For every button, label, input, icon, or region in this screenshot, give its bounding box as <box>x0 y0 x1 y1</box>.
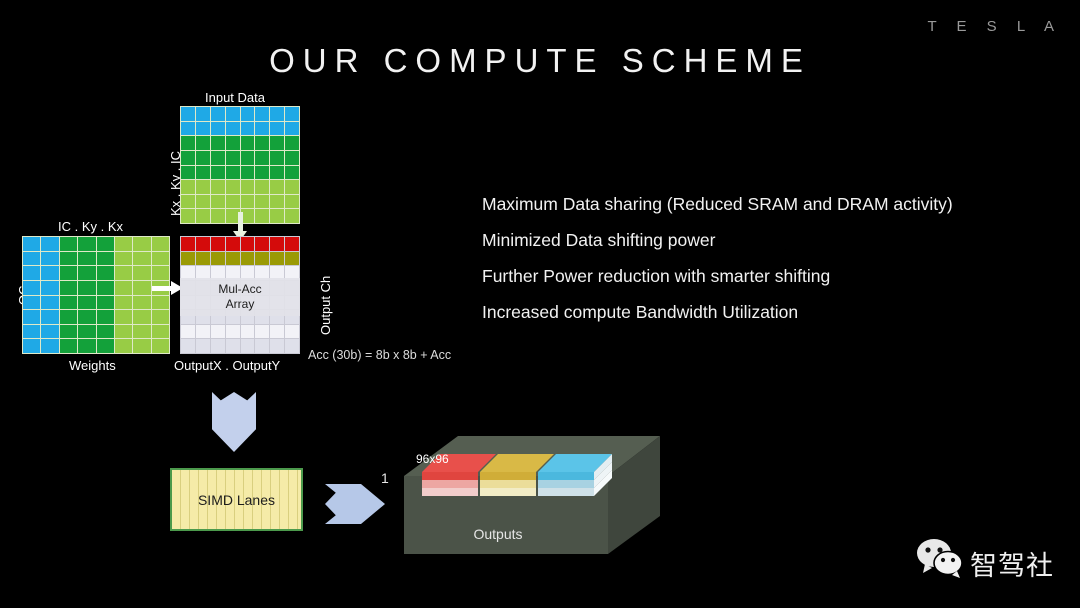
grid-cell <box>97 281 114 295</box>
grid-cell <box>152 310 169 324</box>
grid-cell <box>255 339 269 353</box>
wechat-icon <box>915 538 965 578</box>
grid-cell <box>270 136 284 150</box>
grid-cell <box>255 122 269 136</box>
grid-cell <box>255 166 269 180</box>
grid-cell <box>78 266 95 280</box>
grid-cell <box>285 325 299 339</box>
grid-cell <box>41 325 58 339</box>
weights-title: IC . Ky . Kx <box>58 219 123 234</box>
grid-cell <box>226 325 240 339</box>
grid-cell <box>23 296 40 310</box>
grid-cell <box>226 180 240 194</box>
grid-cell <box>211 237 225 251</box>
grid-cell <box>181 107 195 121</box>
grid-cell <box>211 180 225 194</box>
grid-cell <box>270 180 284 194</box>
grid-cell <box>255 180 269 194</box>
grid-cell <box>41 281 58 295</box>
grid-cell <box>285 209 299 223</box>
grid-cell <box>152 339 169 353</box>
grid-cell <box>196 281 210 295</box>
grid-cell <box>115 237 132 251</box>
grid-cell <box>211 136 225 150</box>
grid-cell <box>133 310 150 324</box>
grid-cell <box>241 180 255 194</box>
grid-cell <box>270 166 284 180</box>
tesla-wordmark: T E S L A <box>927 18 1062 35</box>
grid-cell <box>60 266 77 280</box>
grid-cell <box>115 281 132 295</box>
grid-cell <box>270 339 284 353</box>
grid-cell <box>255 209 269 223</box>
grid-cell <box>41 296 58 310</box>
grid-cell <box>226 151 240 165</box>
grid-cell <box>78 296 95 310</box>
grid-cell <box>226 266 240 280</box>
grid-cell <box>78 252 95 266</box>
grid-cell <box>152 237 169 251</box>
grid-cell <box>41 339 58 353</box>
grid-cell <box>41 252 58 266</box>
bullet-list: Maximum Data sharing (Reduced SRAM and D… <box>482 186 1042 330</box>
grid-cell <box>241 195 255 209</box>
grid-cell <box>211 166 225 180</box>
grid-cell <box>196 136 210 150</box>
grid-cell <box>133 266 150 280</box>
grid-cell <box>133 325 150 339</box>
grid-cell <box>241 266 255 280</box>
grid-cell <box>241 296 255 310</box>
outputs-3d-block: 96x96 Outputs <box>398 428 668 560</box>
grid-cell <box>196 237 210 251</box>
grid-cell <box>270 151 284 165</box>
output-channel-label: Output Ch <box>318 276 333 335</box>
input-data-title: Input Data <box>205 90 265 105</box>
grid-cell <box>226 237 240 251</box>
grid-cell <box>255 151 269 165</box>
bullet-item: Further Power reduction with smarter shi… <box>482 258 1042 294</box>
grid-cell <box>226 107 240 121</box>
grid-cell <box>196 339 210 353</box>
grid-cell <box>211 339 225 353</box>
grid-cell <box>60 339 77 353</box>
grid-cell <box>241 325 255 339</box>
grid-cell <box>41 237 58 251</box>
grid-cell <box>285 166 299 180</box>
grid-cell <box>211 151 225 165</box>
grid-cell <box>255 237 269 251</box>
grid-cell <box>60 310 77 324</box>
grid-cell <box>285 122 299 136</box>
grid-cell <box>181 281 195 295</box>
grid-cell <box>152 296 169 310</box>
grid-cell <box>181 166 195 180</box>
grid-cell <box>285 195 299 209</box>
grid-cell <box>211 252 225 266</box>
grid-cell <box>181 237 195 251</box>
bullet-item: Maximum Data sharing (Reduced SRAM and D… <box>482 186 1042 222</box>
outputs-tile-label: 96x96 <box>416 452 449 466</box>
grid-cell <box>285 107 299 121</box>
grid-cell <box>196 209 210 223</box>
grid-cell <box>285 136 299 150</box>
grid-cell <box>196 151 210 165</box>
grid-cell <box>196 107 210 121</box>
right-arrow-icon <box>152 286 172 291</box>
grid-cell <box>23 339 40 353</box>
grid-cell <box>241 107 255 121</box>
grid-cell <box>285 296 299 310</box>
watermark: 智驾社 <box>915 538 1075 584</box>
grid-cell <box>241 166 255 180</box>
grid-cell <box>226 339 240 353</box>
grid-cell <box>97 266 114 280</box>
grid-cell <box>241 310 255 324</box>
grid-cell <box>270 325 284 339</box>
grid-cell <box>226 281 240 295</box>
simd-lanes-box: SIMD Lanes <box>170 468 303 531</box>
grid-cell <box>181 296 195 310</box>
grid-cell <box>97 339 114 353</box>
grid-cell <box>226 195 240 209</box>
bullet-item: Minimized Data shifting power <box>482 222 1042 258</box>
grid-cell <box>241 339 255 353</box>
page-title: OUR COMPUTE SCHEME <box>0 42 1080 80</box>
grid-cell <box>196 180 210 194</box>
grid-cell <box>181 136 195 150</box>
grid-cell <box>97 325 114 339</box>
grid-cell <box>241 151 255 165</box>
grid-cell <box>41 310 58 324</box>
grid-cell <box>285 180 299 194</box>
grid-cell <box>78 325 95 339</box>
grid-cell <box>255 252 269 266</box>
grid-cell <box>285 339 299 353</box>
grid-cell <box>133 252 150 266</box>
grid-cell <box>226 252 240 266</box>
grid-cell <box>133 339 150 353</box>
grid-cell <box>211 122 225 136</box>
grid-cell <box>41 266 58 280</box>
acc-formula: Acc (30b) = 8b x 8b + Acc <box>308 348 451 362</box>
grid-cell <box>23 325 40 339</box>
grid-cell <box>255 266 269 280</box>
grid-cell <box>196 310 210 324</box>
grid-cell <box>285 237 299 251</box>
chevron-down-icon <box>212 392 256 452</box>
grid-cell <box>211 266 225 280</box>
grid-cell <box>60 281 77 295</box>
grid-cell <box>181 325 195 339</box>
watermark-text: 智驾社 <box>970 544 1054 583</box>
grid-cell <box>23 281 40 295</box>
chevron-right-icon <box>325 484 385 524</box>
grid-cell <box>196 195 210 209</box>
grid-cell <box>226 122 240 136</box>
grid-cell <box>226 166 240 180</box>
grid-cell <box>241 136 255 150</box>
grid-cell <box>115 296 132 310</box>
grid-cell <box>196 166 210 180</box>
grid-cell <box>60 237 77 251</box>
weights-caption: Weights <box>69 358 116 373</box>
grid-cell <box>152 266 169 280</box>
grid-cell <box>115 310 132 324</box>
grid-cell <box>97 296 114 310</box>
input-data-grid <box>180 106 300 224</box>
grid-cell <box>196 252 210 266</box>
grid-cell <box>226 136 240 150</box>
grid-cell <box>270 266 284 280</box>
grid-cell <box>285 151 299 165</box>
grid-cell <box>226 310 240 324</box>
down-arrow-icon <box>238 212 243 232</box>
grid-cell <box>60 252 77 266</box>
grid-cell <box>285 310 299 324</box>
grid-cell <box>285 281 299 295</box>
grid-cell <box>23 266 40 280</box>
outputs-label: Outputs <box>398 526 598 542</box>
grid-cell <box>115 252 132 266</box>
grid-cell <box>270 281 284 295</box>
grid-cell <box>181 122 195 136</box>
grid-cell <box>196 122 210 136</box>
grid-cell <box>255 107 269 121</box>
grid-cell <box>270 195 284 209</box>
grid-cell <box>255 195 269 209</box>
grid-cell <box>241 122 255 136</box>
grid-cell <box>181 266 195 280</box>
mul-acc-array-grid <box>180 236 300 354</box>
grid-cell <box>270 209 284 223</box>
grid-cell <box>97 252 114 266</box>
grid-cell <box>181 252 195 266</box>
grid-cell <box>78 310 95 324</box>
grid-cell <box>270 122 284 136</box>
grid-cell <box>270 237 284 251</box>
grid-cell <box>115 339 132 353</box>
grid-cell <box>285 266 299 280</box>
grid-cell <box>255 296 269 310</box>
weights-grid <box>22 236 170 354</box>
grid-cell <box>211 107 225 121</box>
grid-cell <box>226 296 240 310</box>
grid-cell <box>133 237 150 251</box>
grid-cell <box>285 252 299 266</box>
grid-cell <box>270 107 284 121</box>
step-number: 1 <box>381 470 389 486</box>
grid-cell <box>241 237 255 251</box>
grid-cell <box>241 252 255 266</box>
simd-lanes-label: SIMD Lanes <box>198 492 275 508</box>
grid-cell <box>60 296 77 310</box>
grid-cell <box>196 296 210 310</box>
grid-cell <box>255 325 269 339</box>
grid-cell <box>211 195 225 209</box>
grid-cell <box>97 237 114 251</box>
grid-cell <box>23 310 40 324</box>
grid-cell <box>78 237 95 251</box>
bullet-item: Increased compute Bandwidth Utilization <box>482 294 1042 330</box>
grid-cell <box>255 281 269 295</box>
grid-cell <box>115 266 132 280</box>
grid-cell <box>241 281 255 295</box>
grid-cell <box>23 252 40 266</box>
grid-cell <box>115 325 132 339</box>
grid-cell <box>255 136 269 150</box>
grid-cell <box>133 296 150 310</box>
grid-cell <box>60 325 77 339</box>
grid-cell <box>270 296 284 310</box>
grid-cell <box>78 339 95 353</box>
grid-cell <box>211 325 225 339</box>
grid-cell <box>181 310 195 324</box>
grid-cell <box>211 296 225 310</box>
grid-cell <box>181 209 195 223</box>
grid-cell <box>181 180 195 194</box>
grid-cell <box>152 252 169 266</box>
grid-cell <box>196 325 210 339</box>
grid-cell <box>255 310 269 324</box>
grid-cell <box>211 310 225 324</box>
grid-cell <box>23 237 40 251</box>
grid-cell <box>97 310 114 324</box>
grid-cell <box>181 151 195 165</box>
grid-cell <box>196 266 210 280</box>
grid-cell <box>181 195 195 209</box>
grid-cell <box>152 325 169 339</box>
grid-cell <box>270 252 284 266</box>
grid-cell <box>133 281 150 295</box>
grid-cell <box>211 281 225 295</box>
grid-cell <box>270 310 284 324</box>
grid-cell <box>78 281 95 295</box>
grid-cell <box>211 209 225 223</box>
grid-cell <box>181 339 195 353</box>
output-xy-label: OutputX . OutputY <box>174 358 280 373</box>
